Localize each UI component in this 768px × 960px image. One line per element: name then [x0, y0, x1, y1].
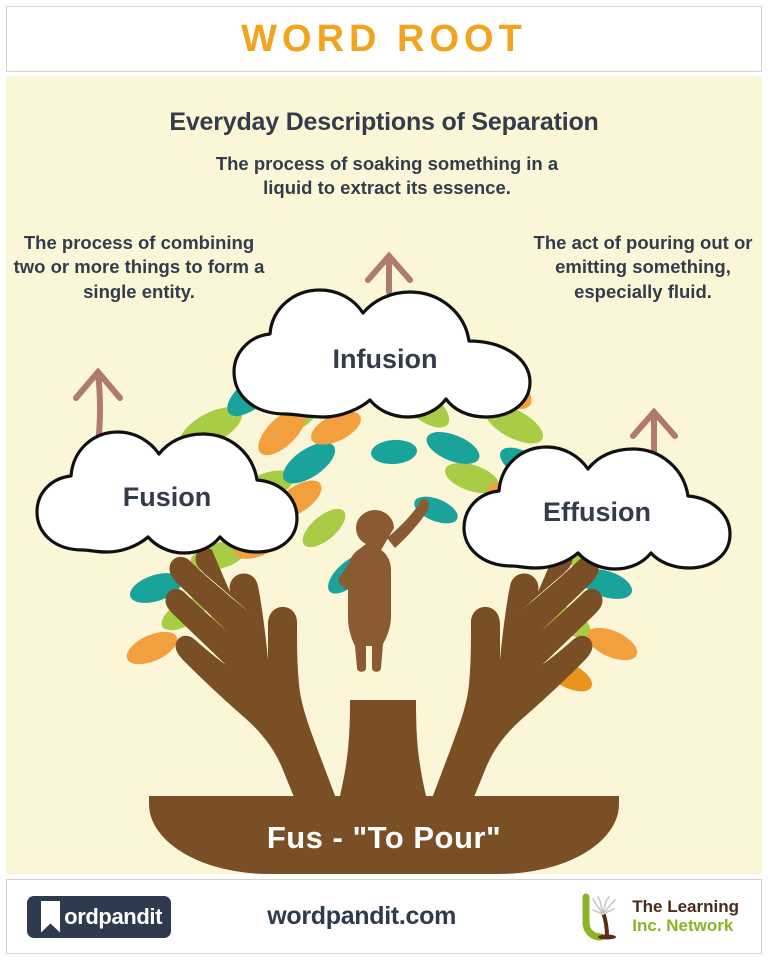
website-url[interactable]: wordpandit.com [147, 902, 576, 931]
cloud-shape-fusion [31, 428, 303, 560]
page-title: WORD ROOT [241, 18, 527, 61]
cloud-shape-effusion [458, 442, 736, 576]
description-fusion: The process of combining two or more thi… [10, 231, 268, 304]
cloud-effusion[interactable]: Effusion [458, 442, 736, 576]
learning-network-wordmark: The Learning Inc. Network [632, 898, 739, 935]
child-silhouette [338, 499, 429, 672]
header-bar: WORD ROOT [6, 6, 762, 72]
learning-network-logo[interactable]: The Learning Inc. Network [576, 892, 739, 942]
cloud-fusion[interactable]: Fusion [31, 428, 303, 560]
footer-bar: ordpandit wordpandit.com The Learning In… [6, 879, 762, 954]
partner-line-2: Inc. Network [632, 917, 739, 935]
root-banner-text: Fus - "To Pour" [267, 820, 501, 856]
bookmark-icon [41, 901, 60, 933]
cloud-infusion[interactable]: Infusion [228, 286, 542, 424]
description-infusion: The process of soaking something in a li… [192, 152, 582, 201]
partner-line-1: The Learning [632, 898, 739, 916]
main-canvas: Everyday Descriptions of Separation The … [6, 76, 762, 874]
tree-logo-icon [576, 892, 628, 942]
wordpandit-logo-text: ordpandit [64, 904, 162, 930]
description-effusion: The act of pouring out or emitting somet… [524, 231, 762, 304]
root-banner: Fus - "To Pour" [149, 796, 619, 874]
wordpandit-logo[interactable]: ordpandit [27, 896, 171, 938]
infographic-poster: WORD ROOT Everyday Descriptions of Separ… [0, 0, 768, 960]
cloud-shape-infusion [228, 286, 542, 424]
